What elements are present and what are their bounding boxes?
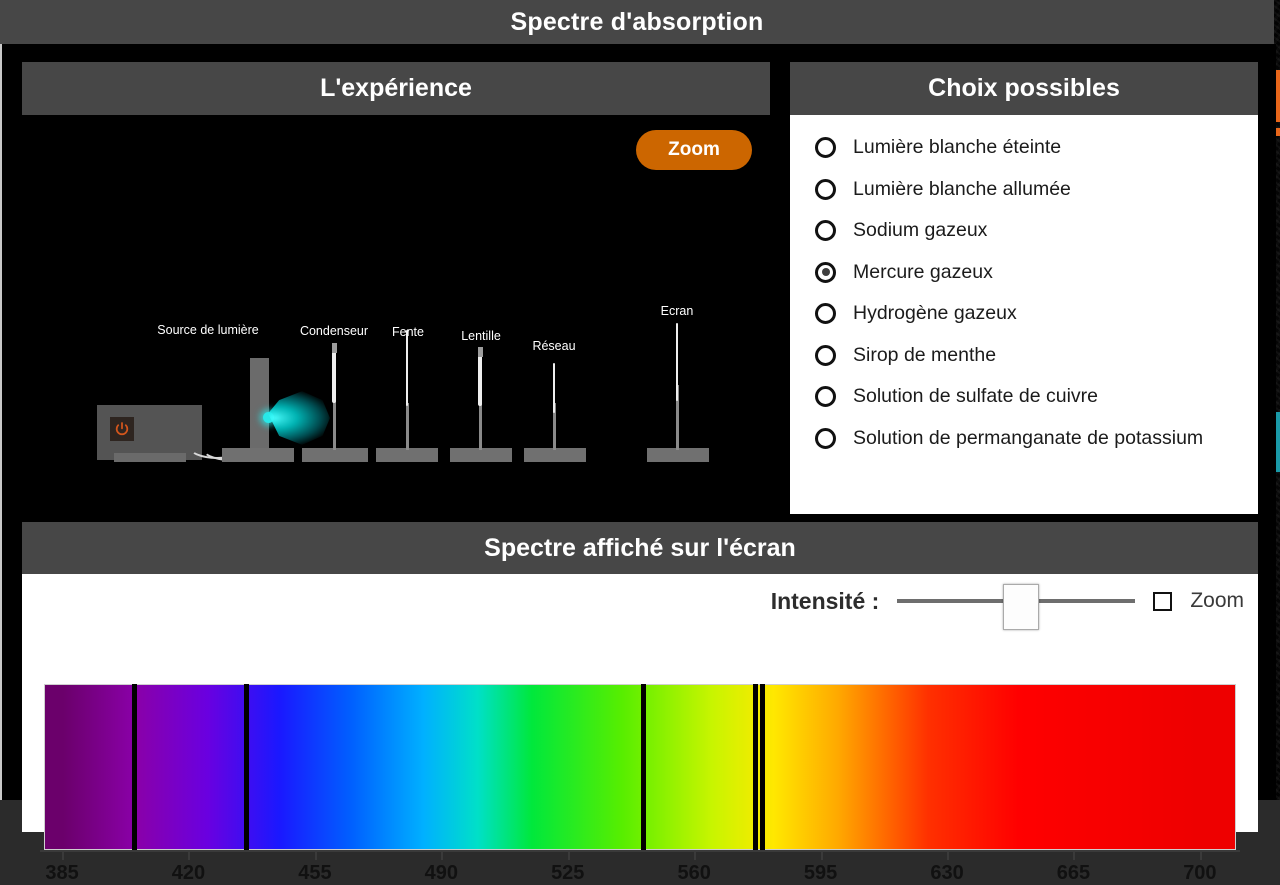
light-source-base [222,448,294,462]
lentille-cap [478,347,483,357]
axis-tick-label-490: 490 [425,862,458,885]
spectrum-controls: Intensité : Zoom [771,580,1244,622]
application-window: Spectre d'absorption L'expérience Zoom [0,0,1274,800]
spectrum-panel: Spectre affiché sur l'écran Intensité : … [22,522,1258,832]
choice-option-label: Lumière blanche éteinte [853,136,1061,159]
axis-tick-525 [568,850,570,860]
fente-rod [406,403,409,450]
fente-optic[interactable] [406,330,408,406]
zoom-button[interactable]: Zoom [636,130,752,170]
lentille-base [450,448,512,462]
choices-panel: Choix possibles Lumière blanche éteinteL… [790,62,1258,514]
axis-tick-700 [1200,850,1202,860]
simulation-stage: L'expérience Zoom [0,44,1276,800]
choice-option-6[interactable]: Solution de sulfate de cuivre [790,376,1258,418]
absorption-line-546nm [641,684,646,850]
axis-tick-490 [441,850,443,860]
zoom-checkbox-label: Zoom [1190,589,1244,613]
axis-tick-label-630: 630 [930,862,963,885]
condenseur-rod [333,400,336,450]
condenseur-cap [332,343,337,353]
radio-icon[interactable] [815,179,836,200]
choices-panel-header: Choix possibles [790,62,1258,115]
spectrum-gradient [44,684,1236,850]
spectrum-body: Intensité : Zoom 38542045549052556059563… [22,574,1258,832]
light-beam-glow [268,390,330,446]
axis-tick-label-665: 665 [1057,862,1090,885]
choice-option-7[interactable]: Solution de permanganate de potassium [790,418,1258,460]
spectrum-display [44,684,1236,850]
label-reseau: Réseau [532,339,575,353]
axis-tick-label-525: 525 [551,862,584,885]
absorption-line-405nm [132,684,137,850]
choice-option-1[interactable]: Lumière blanche allumée [790,169,1258,211]
axis-tick-label-595: 595 [804,862,837,885]
absorption-line-577nm [753,684,758,850]
absorption-line-579nm [760,684,765,850]
choice-option-4[interactable]: Hydrogène gazeux [790,293,1258,335]
ecran-optic[interactable] [676,323,678,401]
choice-option-0[interactable]: Lumière blanche éteinte [790,127,1258,169]
choice-option-label: Sirop de menthe [853,344,996,367]
zoom-checkbox[interactable] [1153,592,1172,611]
power-icon[interactable] [110,417,134,441]
experience-panel: L'expérience Zoom [22,62,770,462]
axis-tick-665 [1073,850,1075,860]
axis-tick-label-560: 560 [677,862,710,885]
spectrum-title: Spectre affiché sur l'écran [484,534,796,563]
choice-option-label: Solution de permanganate de potassium [853,427,1203,450]
label-ecran: Ecran [661,304,694,318]
experience-panel-header: L'expérience [22,62,770,115]
intensity-slider-thumb[interactable] [1003,584,1039,630]
intensity-slider[interactable] [897,580,1135,622]
label-source: Source de lumière [157,323,258,337]
lentille-optic[interactable] [478,351,482,406]
axis-tick-560 [694,850,696,860]
radio-icon[interactable] [815,303,836,324]
choice-option-label: Sodium gazeux [853,219,987,242]
axis-tick-385 [62,850,64,860]
choice-option-2[interactable]: Sodium gazeux [790,210,1258,252]
absorption-line-436nm [244,684,249,850]
reseau-optic[interactable] [553,363,555,413]
ecran-base [647,448,709,462]
choice-option-label: Mercure gazeux [853,261,993,284]
choice-option-5[interactable]: Sirop de menthe [790,335,1258,377]
choice-option-label: Lumière blanche allumée [853,178,1071,201]
condenseur-base [302,448,368,462]
label-fente: Fente [392,325,424,339]
wavelength-axis [40,850,1240,852]
axis-tick-label-455: 455 [298,862,331,885]
light-source-lamp [250,358,269,462]
choice-option-label: Hydrogène gazeux [853,302,1017,325]
axis-tick-630 [947,850,949,860]
axis-tick-420 [188,850,190,860]
choices-radio-group[interactable]: Lumière blanche éteinteLumière blanche a… [790,115,1258,514]
lentille-rod [479,401,482,450]
radio-icon[interactable] [815,220,836,241]
radio-icon[interactable] [815,428,836,449]
axis-tick-label-420: 420 [172,862,205,885]
axis-tick-595 [821,850,823,860]
choice-option-label: Solution de sulfate de cuivre [853,385,1098,408]
fente-base [376,448,438,462]
spectrum-panel-header: Spectre affiché sur l'écran [22,522,1258,574]
axis-tick-455 [315,850,317,860]
radio-icon[interactable] [815,345,836,366]
power-supply-foot [114,453,186,462]
label-lentille: Lentille [461,329,501,343]
radio-icon[interactable] [815,137,836,158]
intensity-label: Intensité : [771,588,880,615]
radio-icon[interactable] [815,262,836,283]
label-condenseur: Condenseur [300,324,368,338]
radio-icon[interactable] [815,386,836,407]
experience-title: L'expérience [320,74,472,103]
choice-option-3[interactable]: Mercure gazeux [790,252,1258,294]
reseau-base [524,448,586,462]
choices-title: Choix possibles [928,74,1120,103]
radio-selected-dot [822,268,830,276]
page-title: Spectre d'absorption [510,8,763,37]
axis-tick-label-700: 700 [1183,862,1216,885]
experience-canvas[interactable]: Zoom [22,115,770,462]
condenseur-optic[interactable] [332,347,336,403]
window-title-bar: Spectre d'absorption [0,0,1274,44]
axis-tick-label-385: 385 [45,862,78,885]
